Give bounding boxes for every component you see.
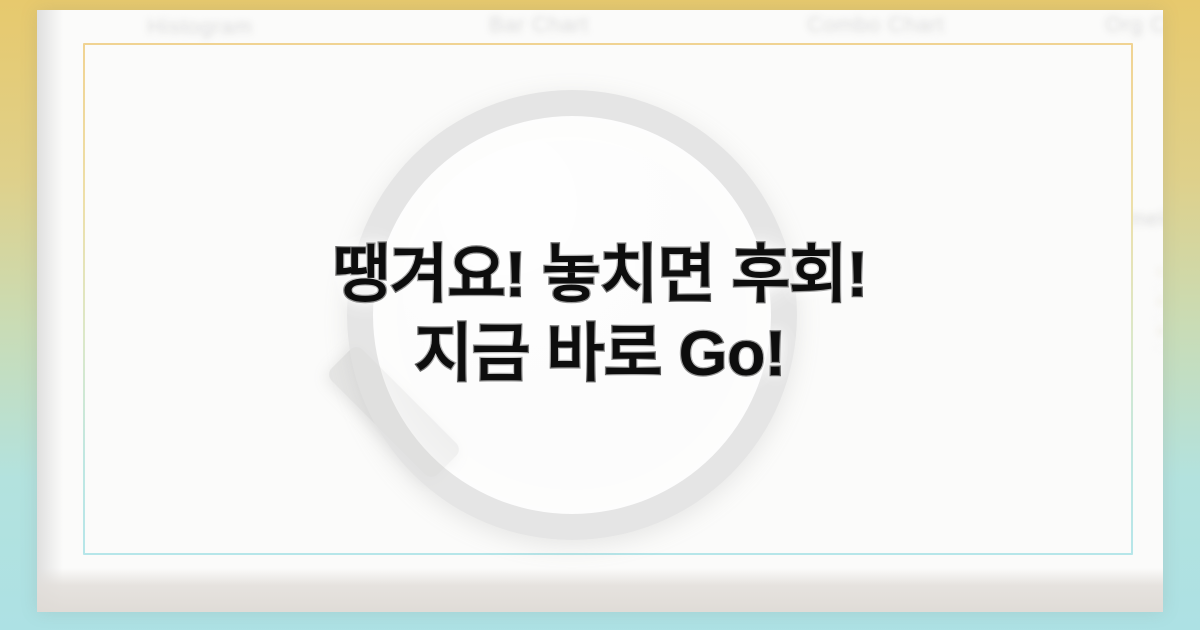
timeline-row-number: 3 [1157, 326, 1163, 338]
chart-label-histogram: Histogram [147, 14, 253, 40]
blurred-dashboard-background: Histogram Bar Chart Combo Chart Org Char… [37, 10, 1163, 612]
timeline-row: 1 Washington [1155, 258, 1163, 289]
org-chart: Jerry Vice President Kent Cleaners [1157, 66, 1163, 196]
chart-label-bar-chart: Bar Chart [489, 12, 589, 38]
timeline-panel: 1 Washington 2 3 [1155, 258, 1163, 378]
timeline-row-number: 2 [1157, 296, 1163, 308]
inner-gradient-frame [83, 43, 1133, 555]
timeline-row: 3 [1155, 318, 1163, 349]
poster-canvas: Histogram Bar Chart Combo Chart Org Char… [0, 0, 1200, 630]
chart-label-combo-chart: Combo Chart [807, 12, 944, 38]
timeline-row: 2 [1155, 288, 1163, 319]
chart-label-org-chart: Org Chart [1105, 12, 1163, 38]
timeline-row-number: 1 [1157, 266, 1163, 278]
